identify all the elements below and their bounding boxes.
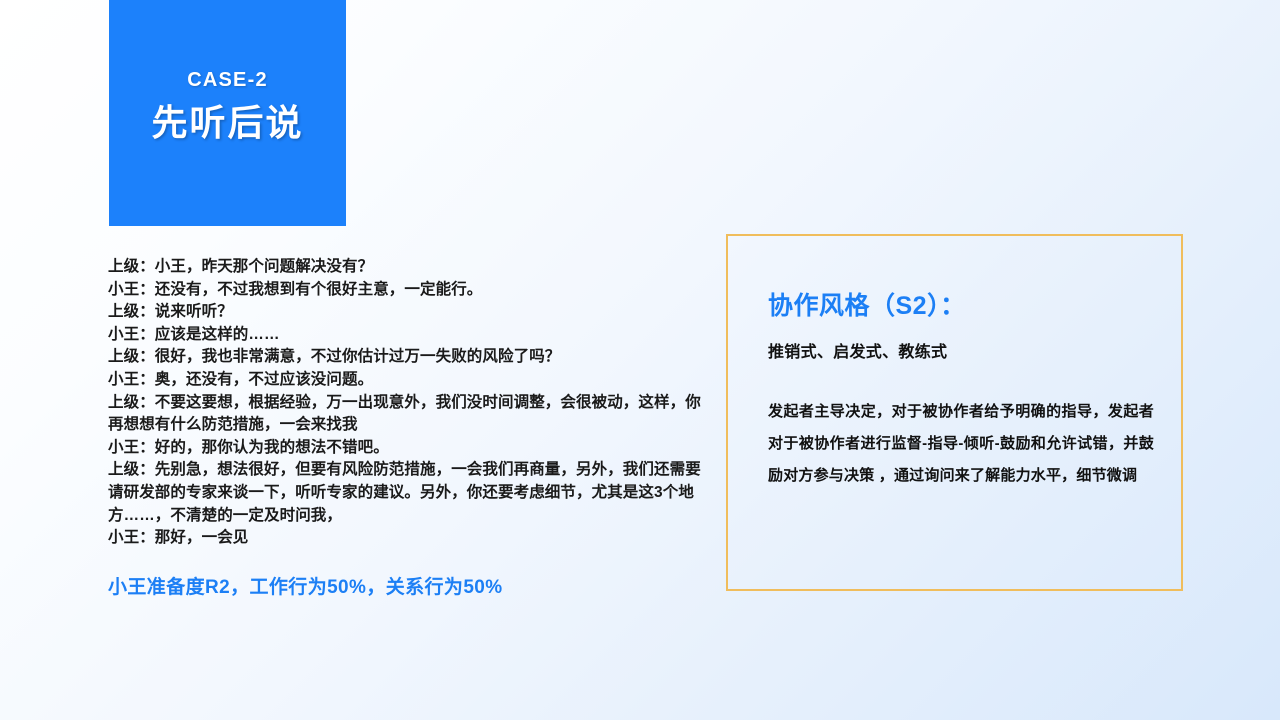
panel-heading: 协作风格（S2）： [768,291,966,321]
dialogue-line: 上级：说来听听？ [108,301,708,324]
dialogue-line: 小王：奥，还没有，不过应该没问题。 [108,369,708,392]
dialogue-line: 小王：应该是这样的…… [108,324,708,347]
panel-body-text: 发起者主导决定，对于被协作者给予明确的指导，发起者对于被协作者进行监督-指导-倾… [768,396,1154,492]
case-title: 先听后说 [151,103,303,143]
readiness-summary: 小王准备度R2，工作行为50%，关系行为50% [108,577,503,600]
dialogue-line: 小王：还没有，不过我想到有个很好主意，一定能行。 [108,279,708,302]
dialogue-line: 上级：小王，昨天那个问题解决没有？ [108,256,708,279]
slide-canvas: CASE-2 先听后说 上级：小王，昨天那个问题解决没有？ 小王：还没有，不过我… [0,0,1280,720]
dialogue-line: 上级：先别急，想法很好，但要有风险防范措施，一会我们再商量，另外，我们还需要请研… [108,459,708,527]
dialogue-line: 上级：不要这要想，根据经验，万一出现意外，我们没时间调整，会很被动，这样，你再想… [108,392,708,437]
case-label: CASE-2 [187,70,268,90]
dialogue-line: 小王：好的，那你认为我的想法不错吧。 [108,437,708,460]
dialogue-line: 小王：那好，一会见 [108,527,708,550]
dialogue-transcript: 上级：小王，昨天那个问题解决没有？ 小王：还没有，不过我想到有个很好主意，一定能… [108,256,708,550]
case-title-block: CASE-2 先听后说 [109,0,346,226]
panel-subheading: 推销式、启发式、教练式 [768,343,947,362]
dialogue-line: 上级：很好，我也非常满意，不过你估计过万一失败的风险了吗？ [108,346,708,369]
